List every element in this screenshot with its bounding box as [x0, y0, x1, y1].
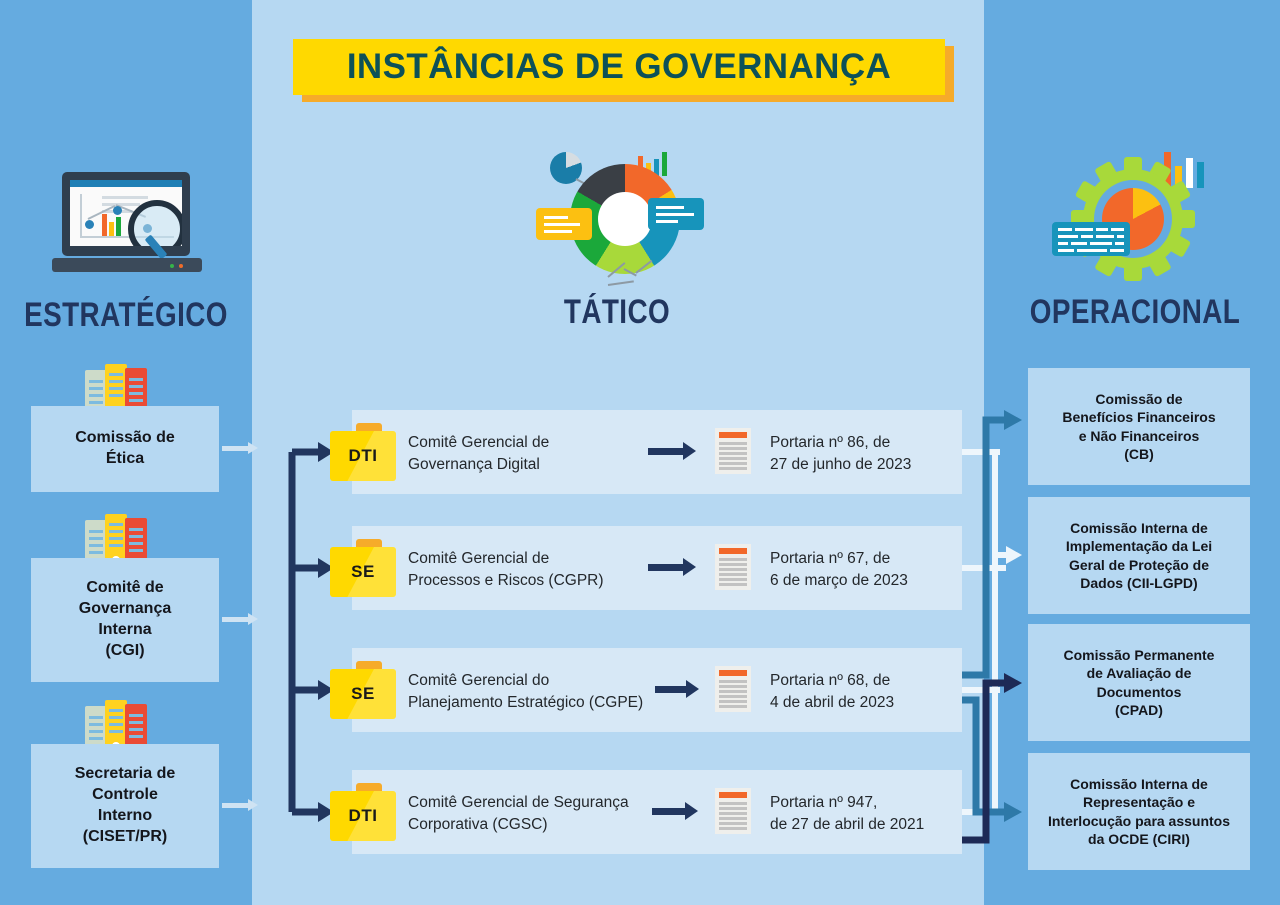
donut-chart-icon [540, 150, 700, 290]
card-label: Comissão Interna de Representação e Inte… [1048, 775, 1230, 848]
card-secretaria-controle-interno[interactable]: Secretaria de Controle Interno (CISET/PR… [31, 744, 219, 868]
page-title: INSTÂNCIAS DE GOVERNANÇA [347, 47, 891, 87]
row-cgsc[interactable]: DTI Comitê Gerencial de Segurança Corpor… [352, 770, 962, 854]
heading-tatico: TÁTICO [482, 293, 753, 332]
folder-label: DTI [330, 791, 396, 841]
title-banner: INSTÂNCIAS DE GOVERNANÇA [293, 39, 945, 95]
laptop-analytics-icon [52, 172, 202, 280]
folder-icon-dti: DTI [330, 423, 396, 481]
folder-label: SE [330, 547, 396, 597]
arrow-committee-to-document [648, 558, 696, 577]
infographic-canvas: INSTÂNCIAS DE GOVERNANÇA [0, 0, 1280, 905]
row-cgpe[interactable]: SE Comitê Gerencial do Planejamento Estr… [352, 648, 962, 732]
card-comite-governanca-interna[interactable]: Comitê de Governança Interna (CGI) [31, 558, 219, 682]
card-comissao-de-etica[interactable]: Comissão de Ética [31, 406, 219, 492]
card-label: Comissão de Benefícios Financeiros e Não… [1062, 390, 1215, 463]
arrow-etica-to-tatico [222, 442, 258, 455]
arrow-ciset-to-tatico [222, 799, 258, 812]
card-label: Comitê de Governança Interna (CGI) [79, 578, 171, 661]
card-label: Comissão Permanente de Avaliação de Docu… [1064, 646, 1215, 719]
arrow-committee-to-document [652, 802, 700, 821]
document-reference: Portaria nº 947, de 27 de abril de 2021 [770, 792, 980, 837]
document-icon [715, 428, 751, 474]
committee-name: Comitê Gerencial de Governança Digital [408, 432, 658, 477]
arrow-cgi-to-tatico [222, 613, 258, 626]
document-icon [715, 544, 751, 590]
committee-name: Comitê Gerencial de Processos e Riscos (… [408, 548, 658, 593]
heading-estrategico: ESTRATÉGICO [23, 296, 230, 335]
document-reference: Portaria nº 68, de 4 de abril de 2023 [770, 670, 970, 715]
document-reference: Portaria nº 67, de 6 de março de 2023 [770, 548, 970, 593]
row-cggd[interactable]: DTI Comitê Gerencial de Governança Digit… [352, 410, 962, 494]
card-label: Secretaria de Controle Interno (CISET/PR… [75, 764, 176, 847]
card-cpad[interactable]: Comissão Permanente de Avaliação de Docu… [1028, 624, 1250, 741]
row-cgpr[interactable]: SE Comitê Gerencial de Processos e Risco… [352, 526, 962, 610]
committee-name: Comitê Gerencial do Planejamento Estraté… [408, 670, 678, 715]
card-ciri[interactable]: Comissão Interna de Representação e Inte… [1028, 753, 1250, 870]
card-cii-lgpd[interactable]: Comissão Interna de Implementação da Lei… [1028, 497, 1250, 614]
document-icon [715, 666, 751, 712]
folder-label: SE [330, 669, 396, 719]
folder-label: DTI [330, 431, 396, 481]
folder-icon-dti: DTI [330, 783, 396, 841]
committee-name: Comitê Gerencial de Segurança Corporativ… [408, 792, 670, 837]
gear-pie-keyboard-icon [1052, 152, 1228, 292]
heading-operacional: OPERACIONAL [1016, 293, 1254, 332]
document-icon [715, 788, 751, 834]
card-label: Comissão de Ética [75, 428, 175, 470]
card-comissao-beneficios[interactable]: Comissão de Benefícios Financeiros e Não… [1028, 368, 1250, 485]
arrow-committee-to-document [648, 442, 696, 461]
folder-icon-se: SE [330, 539, 396, 597]
arrow-committee-to-document [655, 680, 703, 699]
card-label: Comissão Interna de Implementação da Lei… [1066, 519, 1212, 592]
document-reference: Portaria nº 86, de 27 de junho de 2023 [770, 432, 970, 477]
folder-icon-se: SE [330, 661, 396, 719]
